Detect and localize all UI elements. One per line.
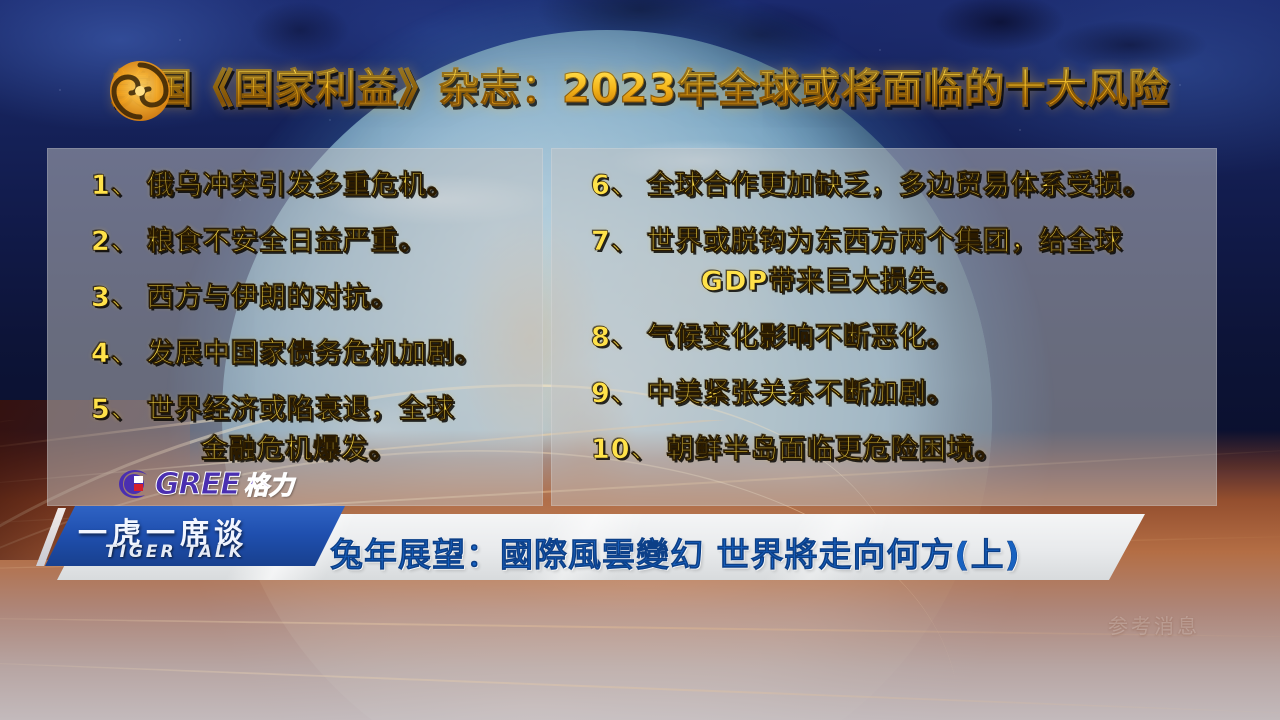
headline-row: 美国《国家利益》杂志：2023年全球或将面临的十大风险: [0, 56, 1280, 114]
risk-line: 气候变化影响不断恶化。: [647, 318, 1217, 358]
list-item: 9、 中美紧张关系不断加剧。: [551, 374, 1217, 414]
risk-text: 发展中国家债务危机加剧。: [147, 334, 543, 374]
risk-line: 西方与伊朗的对抗。: [147, 278, 543, 318]
page-title: 美国《国家利益》杂志：2023年全球或将面临的十大风险: [111, 56, 1169, 114]
risk-line: 世界或脱钩为东西方两个集团，给全球: [647, 222, 1217, 262]
risk-number: 1、: [91, 166, 139, 206]
list-item: 5、 世界经济或陷衰退，全球 金融危机爆发。: [47, 390, 543, 470]
list-item: 2、 粮食不安全日益严重。: [47, 222, 543, 262]
sponsor-name-en: GREE: [155, 467, 240, 502]
lower-third-banner: 一虎一席谈 TIGER TALK 兔年展望：國際風雲變幻 世界將走向何方(上): [0, 506, 1280, 586]
agency-watermark: 参考消息: [1108, 610, 1200, 639]
sponsor-watermark: GREE 格力: [118, 466, 294, 502]
risk-number: 8、: [591, 318, 639, 358]
risk-number: 10、: [591, 430, 659, 470]
risk-text: 世界经济或陷衰退，全球 金融危机爆发。: [147, 390, 543, 470]
episode-topic: 兔年展望：國際風雲變幻 世界將走向何方(上): [330, 528, 1021, 576]
risk-number: 9、: [591, 374, 639, 414]
risk-line: 世界经济或陷衰退，全球: [147, 390, 543, 430]
list-item: 3、 西方与伊朗的对抗。: [47, 278, 543, 318]
risk-text: 世界或脱钩为东西方两个集团，给全球 GDP带来巨大损失。: [647, 222, 1217, 302]
risk-line: 朝鲜半岛面临更危险困境。: [667, 430, 1217, 470]
risk-number: 6、: [591, 166, 639, 206]
risk-text: 中美紧张关系不断加剧。: [647, 374, 1217, 414]
risk-number: 4、: [91, 334, 139, 374]
phoenix-spiral-logo-icon: [104, 55, 176, 127]
list-item: 7、 世界或脱钩为东西方两个集团，给全球 GDP带来巨大损失。: [551, 222, 1217, 302]
risk-number: 2、: [91, 222, 139, 262]
gree-logo-icon: [118, 469, 152, 499]
risk-text: 气候变化影响不断恶化。: [647, 318, 1217, 358]
list-item: 6、 全球合作更加缺乏，多边贸易体系受损。: [551, 166, 1217, 206]
list-item: 1、 俄乌冲突引发多重危机。: [47, 166, 543, 206]
risk-line: 发展中国家债务危机加剧。: [147, 334, 543, 374]
risk-number: 7、: [591, 222, 639, 262]
list-item: 8、 气候变化影响不断恶化。: [551, 318, 1217, 358]
list-item: 4、 发展中国家债务危机加剧。: [47, 334, 543, 374]
risk-line: 金融危机爆发。: [147, 430, 543, 470]
risk-list-left: 1、 俄乌冲突引发多重危机。 2、 粮食不安全日益严重。 3、 西方与伊朗的对抗…: [47, 148, 543, 506]
risk-line: GDP带来巨大损失。: [647, 262, 1217, 302]
broadcast-stage: 参考消息 美国《国家利益》杂志：2023年全球或将面临的十大风险 1、 俄乌冲突…: [0, 0, 1280, 720]
risk-text: 西方与伊朗的对抗。: [147, 278, 543, 318]
risk-list-right: 6、 全球合作更加缺乏，多边贸易体系受损。 7、 世界或脱钩为东西方两个集团，给…: [551, 148, 1217, 506]
risk-text: 俄乌冲突引发多重危机。: [147, 166, 543, 206]
risk-number: 5、: [91, 390, 139, 430]
risk-number: 3、: [91, 278, 139, 318]
list-item: 10、 朝鲜半岛面临更危险困境。: [551, 430, 1217, 470]
risk-text: 全球合作更加缺乏，多边贸易体系受损。: [647, 166, 1217, 206]
risk-line: 粮食不安全日益严重。: [147, 222, 543, 262]
sponsor-name-cn: 格力: [244, 466, 294, 502]
program-name-en: TIGER TALK: [105, 542, 245, 562]
risk-text: 粮食不安全日益严重。: [147, 222, 543, 262]
risk-text: 朝鲜半岛面临更危险困境。: [667, 430, 1217, 470]
risk-line: 全球合作更加缺乏，多边贸易体系受损。: [647, 166, 1217, 206]
risk-line: 中美紧张关系不断加剧。: [647, 374, 1217, 414]
risk-line: 俄乌冲突引发多重危机。: [147, 166, 543, 206]
